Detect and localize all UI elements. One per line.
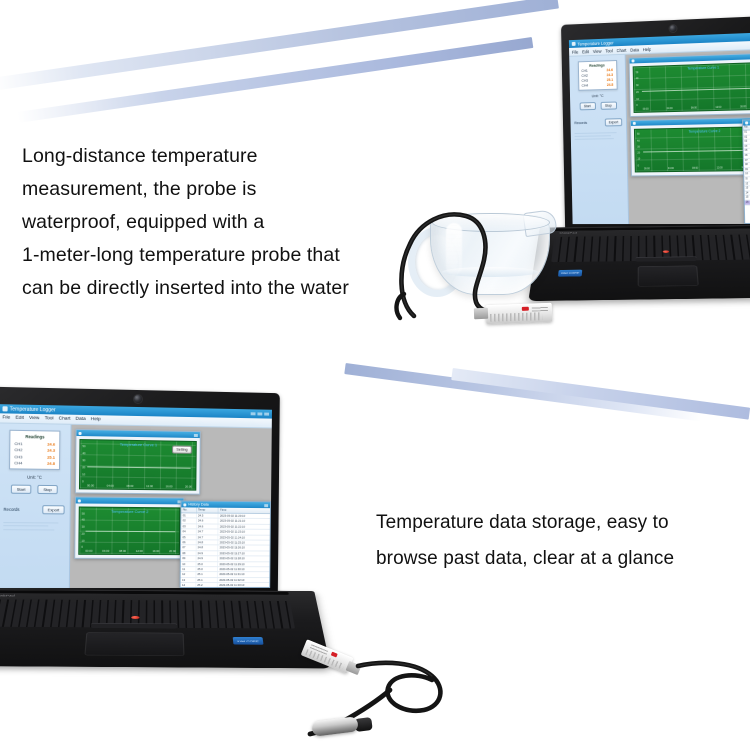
temperature-trace	[87, 467, 191, 469]
y-tick: 30	[636, 84, 639, 87]
export-button[interactable]: Export	[605, 118, 622, 126]
cell-temp: 24.9	[196, 556, 218, 560]
cell-time: 2023-05-02 11:33:10	[218, 583, 270, 587]
reading-value: 24.3	[47, 448, 55, 453]
cell-no: 13	[744, 186, 750, 190]
window-icon	[78, 499, 81, 502]
window-icon	[633, 122, 635, 125]
grid-body: No. Temp Time 0124.52023-05-02 11:20:10 …	[181, 507, 270, 587]
copy-line: measurement, the probe is	[22, 173, 349, 206]
list-item	[3, 529, 54, 531]
menu-item-file[interactable]: File	[2, 415, 10, 420]
laptop-brand: ThinkPad	[0, 594, 15, 597]
decor-bar-upper-2	[17, 37, 533, 123]
x-tick: 00:00	[85, 549, 92, 553]
cell-time: 2023-05-02 11:25:10	[218, 540, 270, 545]
cell-temp: 24.8	[196, 540, 218, 544]
reading-label: CH4	[14, 460, 22, 465]
cell-no: 15	[745, 196, 750, 200]
y-tick: 40	[636, 77, 639, 80]
x-tick: 04:00	[667, 107, 673, 110]
y-tick: 20	[637, 152, 640, 155]
list-item	[3, 525, 48, 526]
cell-temp: 25.0	[196, 562, 218, 566]
touchpad[interactable]	[638, 266, 699, 287]
x-tick: 04:00	[668, 167, 674, 170]
menu-item-tool[interactable]: Tool	[45, 416, 54, 421]
records-placeholder-list	[3, 519, 64, 533]
unit-label: Unit: °C	[27, 475, 42, 480]
cell-no: 08	[744, 163, 750, 167]
cell-time: 2023-05-02 11:21:10	[218, 519, 270, 524]
laptop-hinge	[0, 590, 289, 595]
y-tick: 0	[636, 104, 639, 107]
reading-row: CH1 24.6	[14, 440, 55, 446]
cell-no: 04	[744, 144, 750, 148]
y-tick: 50	[637, 133, 640, 136]
cell-temp: 24.7	[196, 535, 218, 539]
decor-bar-mid-1	[344, 363, 702, 422]
usb-temperature-module	[486, 303, 553, 324]
y-tick: 20	[82, 465, 85, 469]
y-axis-ticks: 50 40 30 20 10 0	[81, 511, 85, 549]
window-icon	[183, 503, 186, 506]
table-row-selected[interactable]: 1625.32023-05-02 11:35:10	[745, 200, 750, 205]
reading-value: 24.3	[607, 73, 613, 77]
cell-time: 2023-05-02 11:32:10	[218, 578, 270, 582]
y-tick: 30	[82, 458, 85, 462]
temperature-plot: Temperature Curve 2 50 40 30 20 10 0	[634, 126, 750, 173]
x-tick: 16:00	[166, 484, 173, 488]
records-label: Records	[574, 121, 587, 125]
cell-temp: 24.7	[196, 530, 218, 534]
reading-label: CH1	[14, 440, 22, 445]
cell-temp: 24.6	[196, 519, 218, 524]
cell-temp: 24.6	[196, 524, 218, 529]
temperature-trace	[642, 88, 750, 93]
y-axis-ticks: 50 40 30 20 10 0	[636, 71, 639, 108]
y-axis-ticks: 50 40 30 20 10 0	[82, 444, 86, 484]
reading-label: CH2	[14, 447, 22, 452]
data-table[interactable]: No. Temp Time 0124.52023-05-02 11:20:10 …	[743, 124, 750, 223]
y-tick: 20	[81, 532, 84, 536]
window-icon	[745, 122, 748, 125]
y-tick: 40	[82, 518, 85, 522]
x-tick: 08:00	[119, 549, 126, 553]
cell-no: 16	[745, 200, 750, 204]
plot-title: Temperature Curve 1	[120, 442, 157, 448]
cell-temp: 25.1	[196, 578, 218, 582]
usb-connector	[474, 308, 488, 319]
column-header-time: Time	[219, 508, 271, 513]
cell-temp: 25.2	[196, 583, 218, 587]
x-tick: 00:00	[87, 483, 94, 487]
y-tick: 40	[82, 451, 85, 455]
intel-sticker: intel CORE	[233, 637, 264, 645]
y-tick: 30	[637, 146, 640, 149]
grid-window-title: History Data	[188, 502, 209, 506]
cell-time: 2023-05-02 11:28:10	[218, 556, 270, 560]
records-placeholder-list	[575, 130, 623, 142]
close-icon[interactable]	[194, 433, 198, 436]
y-tick: 10	[82, 472, 85, 476]
cell-temp: 25.0	[196, 567, 218, 571]
window-controls[interactable]	[251, 412, 269, 416]
cell-time: 2023-05-02 11:22:10	[218, 524, 270, 529]
close-icon[interactable]	[264, 504, 268, 507]
history-data-window: History Data No. Temp Time	[742, 117, 750, 224]
reading-row: CH4 24.8	[14, 460, 55, 466]
window-icon	[632, 60, 634, 63]
module-vents	[490, 312, 542, 322]
maximize-icon[interactable]	[257, 412, 262, 416]
menu-item-view[interactable]: View	[29, 416, 40, 421]
table-row[interactable]: 1425.22023-05-02 11:33:10	[181, 583, 271, 587]
brand-logo-icon	[522, 307, 529, 311]
menu-item-chart[interactable]: Chart	[616, 47, 626, 52]
column-header-temp: Temp	[197, 508, 219, 513]
menu-item-help[interactable]: Help	[91, 417, 101, 422]
reading-row: CH3 25.1	[14, 454, 55, 460]
menu-item-chart[interactable]: Chart	[59, 416, 71, 421]
cell-no: 09	[181, 556, 196, 560]
probe-cable-path	[300, 650, 490, 750]
chart-window-titlebar	[76, 497, 184, 504]
close-icon[interactable]	[264, 412, 269, 416]
y-tick: 0	[82, 479, 85, 483]
cell-no: 01	[181, 513, 196, 517]
readings-card: Readings CH1 24.6 CH2 24.3	[577, 60, 617, 91]
x-axis-ticks: 00:00 04:00 08:00 12:00 16:00 20:00	[85, 549, 176, 553]
x-tick: 16:00	[152, 549, 159, 553]
reading-label: CH4	[582, 84, 589, 88]
spacebar-key[interactable]	[636, 256, 697, 261]
copy-line: Long-distance temperature	[22, 140, 349, 173]
cell-temp: 24.9	[196, 551, 218, 555]
cell-no: 03	[181, 524, 196, 528]
copy-line: waterproof, equipped with a	[22, 206, 349, 239]
cell-no: 01	[743, 130, 750, 134]
control-panel: Readings CH1 24.6 CH2 24.3	[0, 423, 72, 588]
cell-no: 05	[744, 149, 750, 153]
list-item	[3, 522, 58, 524]
list-item	[575, 135, 611, 137]
reading-value: 24.8	[607, 83, 613, 87]
grid-empty-area	[270, 508, 271, 587]
window-icon	[79, 431, 82, 434]
menu-item-data[interactable]: Data	[630, 47, 639, 52]
chart-setting-button[interactable]: Setting	[172, 446, 192, 454]
waterproof-probe-coiled-cable	[300, 650, 490, 750]
unit-label: Unit: °C	[592, 94, 604, 98]
x-tick: 20:00	[169, 549, 176, 553]
cell-no: 05	[181, 535, 196, 539]
reading-value: 24.6	[47, 441, 55, 446]
chart-window-titlebar	[76, 430, 199, 438]
cell-no: 10	[744, 172, 750, 176]
chart-window-1: Temperature Curve 1 50 40 30 20 10 0	[75, 429, 201, 495]
stop-button[interactable]: Stop	[600, 102, 616, 110]
webcam-icon	[134, 395, 142, 403]
chart-window-1: Temperature Curve 1 50 40 30 20 10 0	[629, 52, 750, 117]
cell-no: 02	[181, 519, 196, 523]
menu-item-edit[interactable]: Edit	[15, 416, 24, 421]
cell-no: 02	[743, 135, 750, 139]
app-icon	[2, 406, 7, 411]
menu-item-data[interactable]: Data	[76, 417, 86, 422]
laptop-lid: Temperature Logger File Edit View Tool C…	[0, 387, 280, 595]
minimize-icon[interactable]	[251, 412, 256, 416]
reading-row: CH2 24.3	[14, 447, 55, 453]
readings-title: Readings	[589, 63, 605, 67]
x-tick: 12:00	[717, 166, 723, 169]
y-tick: 10	[636, 98, 639, 101]
reading-label: CH3	[582, 79, 589, 83]
grid-body: No. Temp Time 0124.52023-05-02 11:20:10 …	[743, 124, 750, 223]
copy-line: browse past data, clear at a glance	[376, 541, 674, 577]
x-tick: 08:00	[126, 484, 133, 488]
cell-no: 14	[181, 583, 196, 587]
x-tick: 12:00	[146, 484, 153, 488]
menu-item-edit[interactable]: Edit	[582, 49, 589, 54]
y-tick: 0	[638, 164, 641, 167]
x-tick: 12:00	[715, 106, 721, 109]
reading-value: 25.1	[47, 454, 55, 459]
chart-window-titlebar	[630, 53, 750, 63]
reading-label: CH3	[14, 454, 22, 459]
temperature-trace	[644, 149, 750, 152]
cell-time: 2023-05-02 11:27:10	[218, 551, 270, 556]
chart-area: Temperature Curve 1 50 40 30 20 10 0	[626, 49, 750, 224]
cell-time: 2023-05-02 11:29:10	[218, 562, 270, 566]
cell-temp: 24.8	[196, 546, 218, 550]
reading-label: CH1	[581, 69, 588, 73]
cell-no: 12	[181, 572, 196, 576]
menu-item-help[interactable]: Help	[643, 46, 652, 51]
feature-text-data-storage: Temperature data storage, easy to browse…	[376, 505, 674, 577]
y-tick: 10	[637, 158, 640, 161]
cell-no: 07	[744, 158, 750, 162]
plot-title: Temperature Curve 1	[687, 66, 719, 71]
touchpad[interactable]	[84, 632, 184, 656]
stop-button[interactable]: Stop	[37, 485, 57, 494]
laptop-base: ThinkPad intel CORE	[0, 589, 331, 668]
y-axis-ticks: 50 40 30 20 10 0	[637, 133, 640, 167]
y-tick: 30	[82, 525, 85, 529]
y-tick: 50	[82, 511, 85, 515]
records-section-header: Records Export	[3, 505, 64, 515]
cell-no: 06	[181, 540, 196, 544]
reading-value: 24.6	[607, 68, 613, 72]
menu-item-tool[interactable]: Tool	[605, 48, 612, 53]
x-tick: 00:00	[644, 167, 650, 170]
column-header-no: No.	[743, 125, 750, 129]
chart-area: Temperature Curve 1 50 40 30 20 10 0	[70, 425, 272, 588]
temperature-plot: Temperature Curve 2 50 40 30 20 10 0	[78, 506, 180, 555]
menu-item-file[interactable]: File	[572, 49, 578, 54]
readings-title: Readings	[25, 434, 44, 439]
logger-app-window: Temperature Logger File Edit View Tool C…	[0, 404, 272, 588]
x-tick: 08:00	[692, 167, 698, 170]
control-panel: Readings CH1 24.6 CH2 24.3	[569, 55, 629, 224]
y-tick: 50	[636, 71, 639, 74]
temperature-plot: Temperature Curve 1 50 40 30 20 10 0	[633, 62, 750, 113]
reading-value: 25.1	[607, 78, 613, 82]
feature-text-waterproof-probe: Long-distance temperature measurement, t…	[22, 140, 349, 305]
y-tick: 10	[81, 538, 84, 542]
records-section-header: Records Export	[574, 118, 622, 127]
y-tick: 20	[636, 91, 639, 94]
reading-label: CH2	[581, 74, 588, 78]
app-icon	[572, 42, 576, 46]
list-item	[575, 132, 617, 134]
cell-time: 2023-05-02 11:20:10	[218, 514, 270, 519]
temperature-trace	[86, 531, 176, 533]
chart-window-2: Temperature Curve 2 50 40 30 20 10 0	[74, 496, 184, 559]
export-button[interactable]: Export	[42, 505, 64, 514]
cell-no: 10	[181, 562, 196, 566]
temperature-plot: Temperature Curve 1 50 40 30 20 10 0	[79, 439, 197, 491]
y-tick: 0	[81, 545, 84, 549]
spacebar-key[interactable]	[91, 623, 177, 628]
cell-no: 04	[181, 529, 196, 533]
cell-time: 2023-05-02 11:26:10	[218, 546, 270, 551]
data-table[interactable]: No. Temp Time 0124.52023-05-02 11:20:10 …	[181, 507, 271, 587]
panel-buttons: Start Stop	[11, 485, 58, 495]
records-label: Records	[3, 507, 19, 512]
plot-title: Temperature Curve 2	[111, 509, 148, 514]
laptop-screen: Temperature Logger File Edit View Tool	[569, 32, 750, 224]
laptop-bottom-left: Temperature Logger File Edit View Tool C…	[0, 390, 300, 720]
panel-buttons: Start Stop	[579, 102, 616, 111]
menu-item-view[interactable]: View	[593, 48, 602, 53]
x-axis-ticks: 00:00 04:00 08:00 12:00 16:00 20:00	[87, 483, 192, 488]
column-header-no: No.	[181, 507, 196, 512]
x-tick: 20:00	[185, 485, 192, 489]
x-tick: 00:00	[643, 108, 649, 111]
app-workspace: Readings CH1 24.6 CH2 24.3	[0, 423, 272, 588]
cell-no: 11	[744, 177, 750, 181]
logger-app-window: Temperature Logger File Edit View Tool	[569, 32, 750, 224]
reading-value: 24.8	[47, 461, 55, 466]
webcam-icon	[669, 25, 676, 32]
product-marketing-image: Temperature Logger File Edit View Tool	[0, 0, 750, 750]
plot-title: Temperature Curve 2	[689, 129, 721, 134]
copy-line: 1-meter-long temperature probe that	[22, 239, 349, 272]
cell-no: 14	[745, 191, 750, 195]
x-tick: 08:00	[691, 106, 697, 109]
cell-temp: 25.1	[196, 572, 218, 576]
trackpoint-icon[interactable]	[131, 616, 139, 619]
cell-no: 13	[181, 578, 196, 582]
cell-time: 2023-05-02 11:31:10	[218, 572, 270, 576]
x-tick: 04:00	[107, 484, 114, 488]
laptop-screen: Temperature Logger File Edit View Tool C…	[0, 404, 272, 588]
copy-line: Temperature data storage, easy to	[376, 505, 674, 541]
cell-temp: 24.5	[196, 513, 218, 518]
laptop-hinge	[553, 226, 750, 231]
app-workspace: Readings CH1 24.6 CH2 24.3	[569, 49, 750, 224]
cell-no: 03	[743, 140, 750, 144]
cell-no: 12	[744, 182, 750, 186]
x-tick: 04:00	[102, 549, 109, 553]
cell-time: 2023-05-02 11:23:10	[218, 530, 270, 535]
y-tick: 50	[82, 444, 85, 448]
cell-time: 2023-05-02 11:24:10	[218, 535, 270, 540]
chart-window-2: Temperature Curve 2 50 40 30 20 10 0	[630, 117, 750, 177]
start-button[interactable]: Start	[579, 102, 595, 110]
list-item	[575, 138, 614, 140]
cell-no: 07	[181, 546, 196, 550]
cell-no: 11	[181, 567, 196, 571]
readings-card: Readings CH1 24.6 CH2 24.3	[9, 430, 60, 470]
cell-no: 06	[744, 154, 750, 158]
history-data-window: History Data No. Temp Time	[180, 500, 271, 588]
y-tick: 40	[637, 139, 640, 142]
x-axis-ticks: 00:00 04:00 08:00 12:00 16:00 20:00	[643, 105, 750, 111]
reading-row: CH4 24.8	[582, 83, 614, 88]
module-label	[532, 306, 548, 312]
x-tick: 12:00	[136, 549, 143, 553]
cell-no: 09	[744, 168, 750, 172]
chart-window-titlebar	[631, 118, 750, 126]
copy-line: can be directly inserted into the water	[22, 272, 349, 305]
laptop-lid: Temperature Logger File Edit View Tool	[561, 15, 750, 230]
x-tick: 16:00	[740, 105, 746, 108]
cell-time: 2023-05-02 11:30:10	[218, 567, 270, 571]
start-button[interactable]: Start	[11, 485, 32, 494]
x-axis-ticks: 00:00 04:00 08:00 12:00 16:00 20:00	[644, 166, 750, 171]
cell-no: 08	[181, 551, 196, 555]
